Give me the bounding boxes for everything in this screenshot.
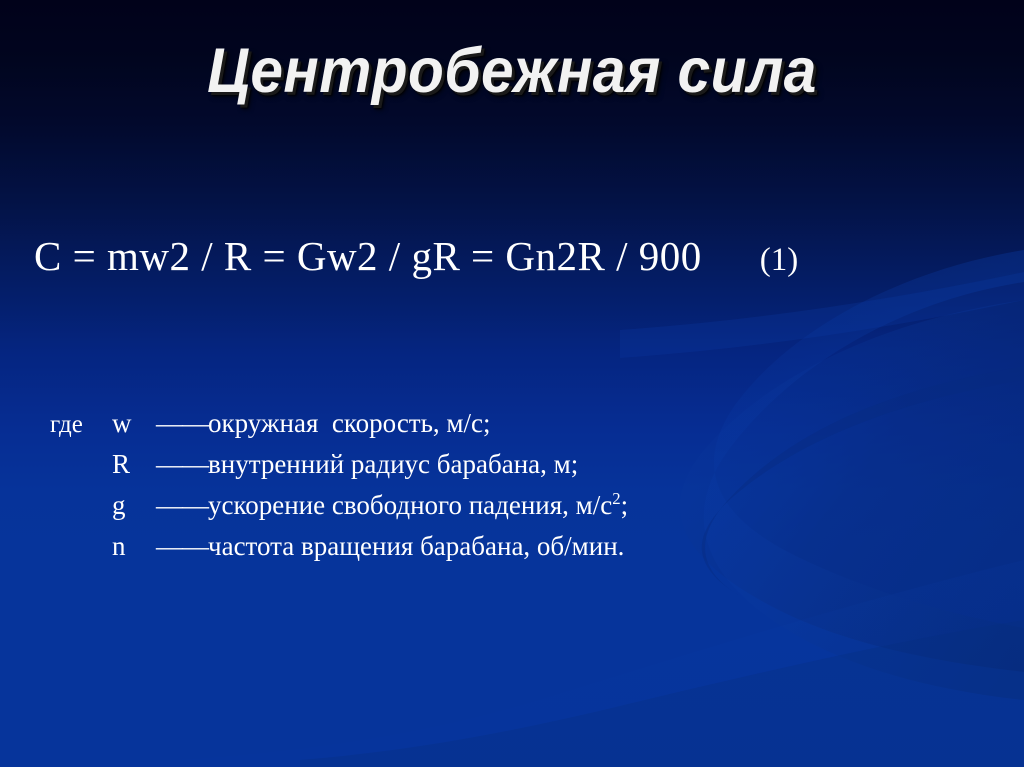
legend-description-text: ускорение свободного падения, м/с: [208, 490, 612, 520]
legend-symbol: w: [112, 408, 156, 439]
legend-line-n: n —— частота вращения барабана, об/мин.: [0, 531, 1024, 572]
legend-dash-icon: ——: [156, 490, 208, 521]
legend-line-r: R —— внутренний радиус барабана, м;: [0, 449, 1024, 490]
legend-description: внутренний радиус барабана, м;: [208, 449, 578, 480]
formula-row: C = mw2 / R = Gw2 / gR = Gn2R / 900 (1): [0, 232, 1024, 292]
legend-dash-icon: ——: [156, 449, 208, 480]
legend-line-g: g —— ускорение свободного падения, м/с2;: [0, 490, 1024, 531]
centrifugal-force-formula: C = mw2 / R = Gw2 / gR = Gn2R / 900: [34, 232, 702, 280]
legend-line-w: где w —— окружная скорость, м/с;: [0, 408, 1024, 449]
legend-symbol: g: [112, 490, 156, 521]
legend-intro-label: где: [50, 411, 112, 439]
legend-dash-icon: ——: [156, 408, 208, 439]
presentation-slide: Центробежная сила C = mw2 / R = Gw2 / gR…: [0, 0, 1024, 767]
legend-description: окружная скорость, м/с;: [208, 408, 491, 439]
legend-symbol: n: [112, 531, 156, 562]
legend-block: где w —— окружная скорость, м/с; R —— вн…: [0, 408, 1024, 572]
formula-number: (1): [760, 242, 798, 279]
legend-dash-icon: ——: [156, 531, 208, 562]
legend-description: частота вращения барабана, об/мин.: [208, 531, 624, 562]
legend-description-tail: ;: [621, 490, 629, 520]
legend-symbol: R: [112, 449, 156, 480]
page-title: Центробежная сила: [36, 38, 988, 104]
slide-background-gradient: [0, 0, 1024, 767]
legend-description: ускорение свободного падения, м/с2;: [208, 490, 628, 521]
legend-superscript: 2: [612, 489, 620, 508]
